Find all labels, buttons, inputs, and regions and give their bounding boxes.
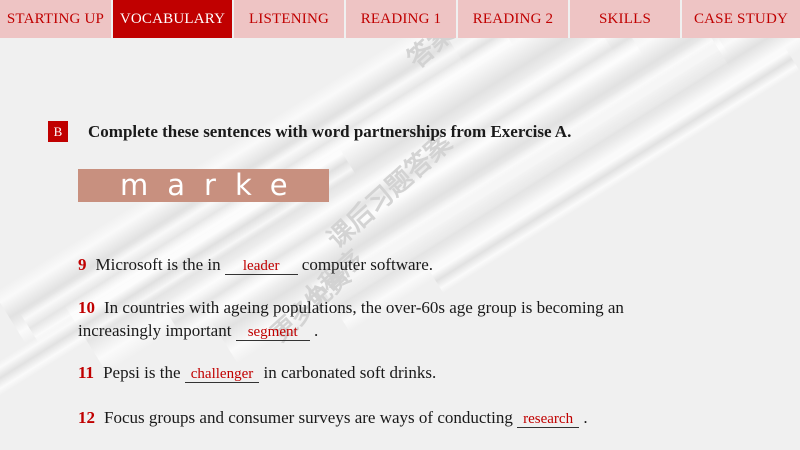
sentence-item: 10In countries with ageing populations, … (78, 296, 700, 344)
sentence-text-after: computer software. (302, 255, 433, 274)
sentence-number: 10 (78, 298, 95, 317)
word-banner: marke (78, 169, 329, 202)
sentence-item: 9Microsoft is the in leader computer sof… (78, 253, 433, 278)
sentence-text-before: Microsoft is the in (96, 255, 221, 274)
sentence-text-before: Pepsi is the (103, 363, 180, 382)
tab-label: READING 2 (473, 11, 554, 28)
watermark-streak (320, 0, 800, 332)
tab-label: VOCABULARY (120, 11, 225, 28)
answer-blank[interactable]: challenger (185, 366, 259, 383)
tab-label: STARTING UP (7, 11, 104, 28)
sentence-number: 9 (78, 255, 87, 274)
answer-blank[interactable]: research (517, 411, 579, 428)
answer-blank[interactable]: segment (236, 324, 310, 341)
watermark-text-line2: 课后习题答案 (318, 124, 459, 256)
sentence-item: 11Pepsi is the challenger in carbonated … (78, 361, 436, 386)
sentence-number: 12 (78, 408, 95, 427)
tab-vocabulary[interactable]: VOCABULARY (113, 0, 234, 38)
tab-label: READING 1 (361, 11, 442, 28)
task-instruction: Complete these sentences with word partn… (88, 122, 571, 142)
task-heading: B Complete these sentences with word par… (48, 121, 571, 142)
tab-label: CASE STUDY (694, 11, 788, 28)
tab-starting-up[interactable]: STARTING UP (0, 0, 113, 38)
answer-blank[interactable]: leader (225, 258, 298, 275)
section-tab-bar: STARTING UP VOCABULARY LISTENING READING… (0, 0, 800, 38)
sentence-text-after: . (314, 321, 318, 340)
sentence-text-after: . (583, 408, 587, 427)
tab-reading-1[interactable]: READING 1 (346, 0, 458, 38)
sentence-number: 11 (78, 363, 94, 382)
sentence-item: 12Focus groups and consumer surveys are … (78, 406, 588, 431)
sentence-text-before: Focus groups and consumer surveys are wa… (104, 408, 513, 427)
tab-label: LISTENING (249, 11, 329, 28)
sentence-text-before: In countries with ageing populations, th… (78, 298, 624, 340)
tab-listening[interactable]: LISTENING (234, 0, 346, 38)
tab-case-study[interactable]: CASE STUDY (682, 0, 800, 38)
tab-label: SKILLS (599, 11, 651, 28)
word-banner-text: marke (120, 165, 307, 205)
exercise-letter-badge: B (48, 121, 68, 142)
tab-reading-2[interactable]: READING 2 (458, 0, 570, 38)
tab-skills[interactable]: SKILLS (570, 0, 682, 38)
sentence-text-after: in carbonated soft drinks. (263, 363, 436, 382)
watermark-streak (428, 47, 799, 293)
